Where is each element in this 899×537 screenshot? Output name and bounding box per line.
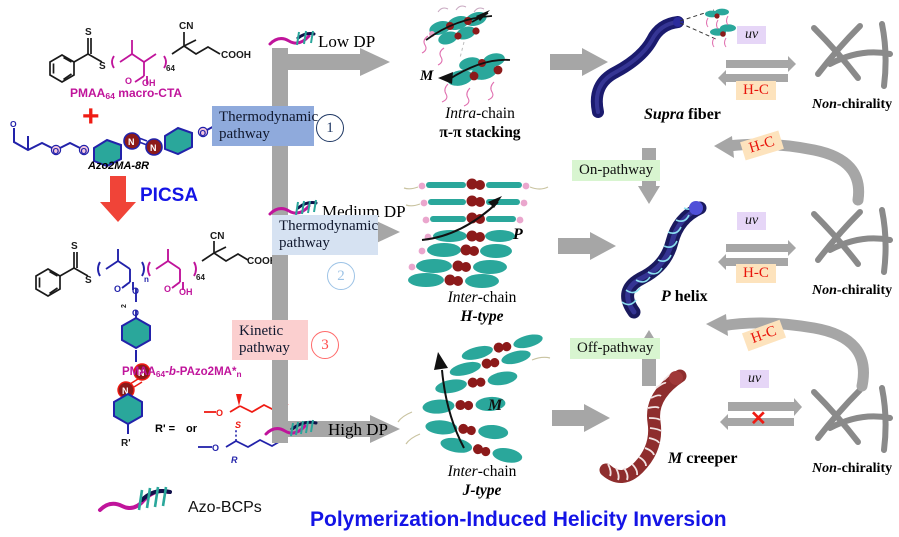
assembly-graphic-middle — [402, 178, 562, 298]
assembly-graphic-top — [404, 6, 554, 110]
uv-box-top[interactable]: uν — [737, 26, 766, 44]
assembly-helix-marker-top: M — [420, 68, 433, 85]
svg-text:R': R' — [121, 438, 131, 449]
assembly-label-top: Intra-chain π-π stacking — [400, 104, 560, 143]
superstructure-label-top-rest: fiber — [684, 106, 721, 123]
svg-text:S: S — [85, 27, 92, 38]
pathway-arrow-1 — [272, 48, 392, 76]
picsa-label: PICSA — [140, 185, 198, 207]
non-chirality-label-middle-rest: -chirality — [837, 283, 892, 298]
svg-text:O: O — [53, 146, 60, 156]
pathway-box-2[interactable]: Thermodynamic pathway — [272, 215, 378, 255]
non-chirality-label-middle-it: Non — [812, 283, 837, 298]
svg-text:O: O — [164, 284, 171, 294]
svg-text:M: M — [487, 397, 503, 414]
figure-title: Polymerization-Induced Helicity Inversio… — [310, 508, 727, 532]
assembly-label-bottom-it: Inter — [448, 463, 478, 480]
superstructure-label-bottom-rest: creeper — [682, 450, 737, 467]
svg-text:O: O — [114, 284, 121, 294]
superstructure-label-middle-it: P — [661, 288, 671, 305]
figure-root: S S O OH 64 CN COOH PMAA64 macro-CTA — [0, 0, 899, 537]
svg-text:O: O — [216, 408, 223, 418]
non-chirality-label-bottom-rest: -chirality — [837, 461, 892, 476]
assembly-label-top-rest: -chain — [476, 105, 515, 122]
svg-text:n: n — [144, 275, 149, 284]
pathway-number-1: 1 — [316, 114, 344, 142]
svg-text:64: 64 — [166, 64, 175, 73]
non-chirality-label-top-rest: -chirality — [837, 97, 892, 112]
hc-box-top[interactable]: H-C — [736, 81, 776, 100]
non-chirality-label-top-it: Non — [812, 97, 837, 112]
svg-text:OH: OH — [179, 287, 193, 297]
superstructure-label-top-it: Supra — [644, 106, 684, 123]
assembly-label-middle-it: Inter — [448, 289, 478, 306]
svg-text:N: N — [128, 137, 135, 147]
non-chirality-label-bottom: Non-chirality — [812, 461, 892, 477]
svg-text:O: O — [132, 286, 139, 296]
assembly-label-top-it: Intra — [445, 105, 476, 122]
svg-text:N: N — [150, 143, 157, 153]
pathway-box-1[interactable]: Thermodynamic pathway — [212, 106, 314, 146]
pathway-box-3[interactable]: Kinetic pathway — [232, 320, 308, 360]
macro-cta-structure: S S O OH 64 CN COOH — [36, 18, 266, 90]
assembly-graphic-bottom: M — [396, 348, 566, 464]
azo-bcp-legend-label: Azo-BCPs — [188, 499, 262, 517]
on-pathway-label: On-pathway — [572, 160, 660, 181]
svg-text:O: O — [125, 76, 132, 86]
pathway-number-2: 2 — [327, 262, 355, 290]
picsa-arrow — [100, 176, 138, 224]
svg-text:S: S — [85, 275, 92, 286]
assembly-label-top-line2: π-π stacking — [439, 124, 520, 141]
assembly-helix-marker-middle: P — [513, 226, 523, 244]
superstructure-label-bottom: M creeper — [668, 450, 737, 468]
assembly-label-middle-line2: H-type — [460, 308, 503, 325]
svg-text:64: 64 — [196, 273, 205, 282]
non-chirality-label-bottom-it: Non — [812, 461, 837, 476]
svg-text:O: O — [132, 308, 139, 318]
off-pathway-label: Off-pathway — [570, 338, 660, 359]
assembly-label-bottom: Inter-chain J-type — [398, 462, 566, 501]
feedback-arrow-top — [694, 128, 874, 208]
dp-glyph-low — [268, 28, 324, 50]
svg-text:S: S — [71, 241, 78, 252]
svg-text:COOH: COOH — [221, 50, 251, 61]
svg-text:O: O — [10, 119, 17, 129]
azo-bcp-legend-glyph — [98, 486, 186, 518]
uv-box-middle[interactable]: uν — [737, 212, 766, 230]
svg-text:R: R — [231, 455, 238, 465]
non-chirality-label-top: Non-chirality — [812, 97, 892, 113]
svg-text:O: O — [81, 146, 88, 156]
dp-label-high: High DP — [328, 420, 388, 440]
blocked-cross-icon: ✕ — [750, 406, 767, 431]
assembly-label-bottom-line2: J-type — [463, 482, 502, 499]
svg-text:S: S — [235, 420, 241, 430]
non-chirality-graphic-top — [808, 20, 894, 94]
svg-text:CN: CN — [210, 231, 224, 242]
svg-text:S: S — [99, 61, 106, 72]
azo-monomer-label: Azo2MA-8R — [88, 160, 149, 172]
superstructure-label-bottom-it: M — [668, 450, 682, 467]
superstructure-label-top: Supra fiber — [644, 106, 721, 124]
block-copolymer-label: PMAA64-b-PAzo2MA*n — [122, 366, 242, 379]
dp-label-low: Low DP — [318, 32, 375, 52]
dp-glyph-high — [264, 418, 330, 440]
non-chirality-label-middle: Non-chirality — [812, 283, 892, 299]
non-chirality-graphic-bottom — [808, 384, 894, 458]
svg-text:CN: CN — [179, 21, 193, 32]
feedback-arrow-bottom — [690, 300, 880, 394]
svg-text:O: O — [212, 443, 219, 453]
pathway-number-3: 3 — [311, 331, 339, 359]
assembly-label-middle: Inter-chain H-type — [398, 288, 566, 327]
non-chirality-graphic-middle — [808, 206, 894, 280]
hc-box-middle[interactable]: H-C — [736, 264, 776, 283]
macro-cta-label: PMAA64 macro-CTA — [70, 86, 182, 101]
svg-text:O: O — [200, 128, 207, 138]
svg-text:2: 2 — [121, 304, 128, 308]
assembly-label-bottom-rest: -chain — [478, 463, 517, 480]
assembly-label-middle-rest: -chain — [478, 289, 517, 306]
